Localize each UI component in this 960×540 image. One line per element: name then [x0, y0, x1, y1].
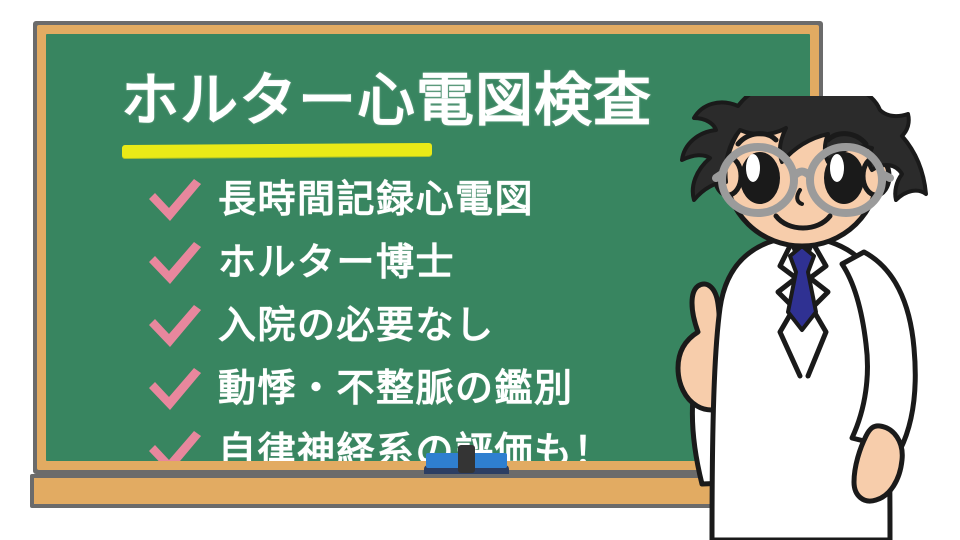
- list-item-label: 動悸・不整脈の鑑別: [218, 370, 574, 408]
- list-item-label: 入院の必要なし: [218, 307, 495, 345]
- list-item-label: 長時間記録心電図: [218, 181, 534, 219]
- slide-canvas: ホルター心電図検査 長時間記録心電図: [0, 0, 960, 540]
- check-mark-icon: [146, 301, 204, 351]
- list-item-label: ホルター博士: [218, 244, 455, 282]
- check-mark-icon: [146, 175, 204, 225]
- title-underline: [122, 143, 432, 158]
- check-mark-icon: [146, 238, 204, 288]
- check-mark-icon: [146, 364, 204, 414]
- list-item-label: 自律神経系の評価も！: [218, 433, 613, 462]
- list-item: ホルター博士: [146, 231, 706, 294]
- page-title: ホルター心電図検査: [121, 72, 652, 130]
- list-item: 動悸・不整脈の鑑別: [146, 357, 706, 420]
- checklist: 長時間記録心電図 ホルター博士: [146, 168, 706, 461]
- list-item: 長時間記録心電図: [146, 168, 706, 231]
- check-mark-icon: [146, 427, 204, 462]
- doctor-illustration: [628, 96, 960, 540]
- list-item: 入院の必要なし: [146, 294, 706, 357]
- eraser-handle: [458, 445, 475, 473]
